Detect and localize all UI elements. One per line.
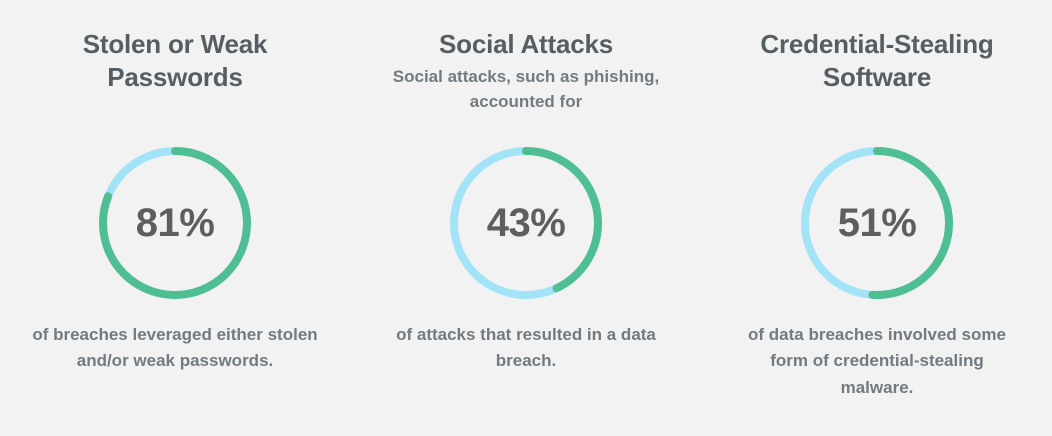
stat-caption: of data breaches involved some form of c… xyxy=(732,322,1022,401)
stat-caption: of breaches leveraged either stolen and/… xyxy=(30,322,320,375)
donut-value-label: 43% xyxy=(446,143,606,303)
donut-chart-social-attacks: 43% xyxy=(446,143,606,303)
column-header: Social Attacks Social attacks, such as p… xyxy=(376,0,676,115)
column-header: Stolen or Weak Passwords xyxy=(25,0,325,95)
donut-chart-credential-stealing-software: 51% xyxy=(797,143,957,303)
donut-value-label: 81% xyxy=(95,143,255,303)
column-header: Credential-Stealing Software xyxy=(727,0,1027,95)
stat-title: Credential-Stealing Software xyxy=(727,28,1027,95)
donut-value-label: 51% xyxy=(797,143,957,303)
stats-infographic: Stolen or Weak Passwords 81% of breaches… xyxy=(0,0,1052,436)
stat-column-social-attacks: Social Attacks Social attacks, such as p… xyxy=(351,0,701,436)
stat-title: Social Attacks xyxy=(376,28,676,61)
stat-column-credential-stealing-software: Credential-Stealing Software 51% of data… xyxy=(702,0,1052,436)
donut-chart-stolen-or-weak-passwords: 81% xyxy=(95,143,255,303)
stat-column-stolen-or-weak-passwords: Stolen or Weak Passwords 81% of breaches… xyxy=(0,0,350,436)
stat-caption: of attacks that resulted in a data breac… xyxy=(381,322,671,375)
stat-title: Stolen or Weak Passwords xyxy=(25,28,325,95)
stat-subtitle: Social attacks, such as phishing, accoun… xyxy=(376,65,676,114)
